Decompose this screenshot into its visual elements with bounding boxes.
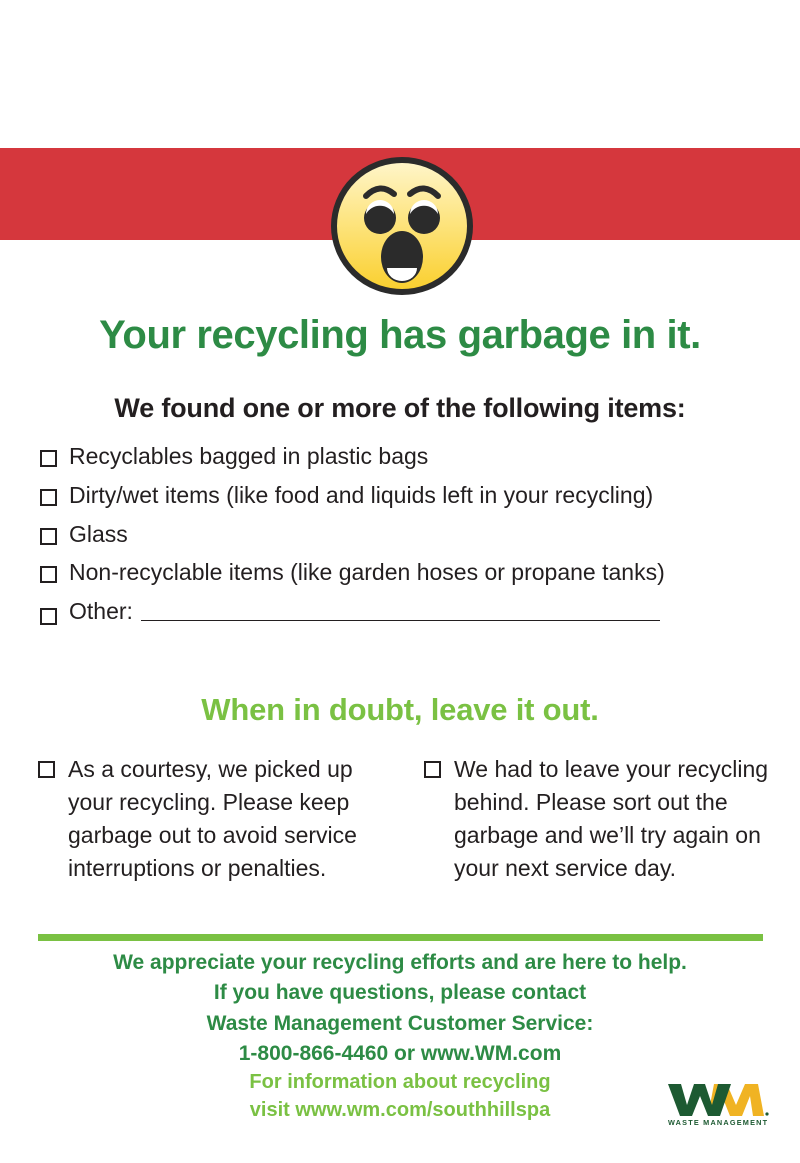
doubt-heading: When in doubt, leave it out.: [0, 692, 800, 728]
outcome-option-left-behind[interactable]: We had to leave your recycling behind. P…: [424, 753, 772, 885]
footer-line-phone-web[interactable]: 1-800-866-4460 or www.WM.com: [0, 1039, 800, 1069]
other-label: Other:: [69, 599, 133, 625]
outcome-option-label: We had to leave your recycling behind. P…: [454, 753, 772, 885]
checklist-item-label: Recyclables bagged in plastic bags: [69, 444, 770, 470]
checklist-item-label: Glass: [69, 522, 770, 548]
logo-tagline: WASTE MANAGEMENT: [668, 1118, 768, 1127]
checklist-item[interactable]: Glass: [40, 522, 770, 548]
checkbox-icon[interactable]: [40, 528, 57, 545]
surprised-face-icon: [326, 156, 478, 296]
checkbox-icon[interactable]: [40, 489, 57, 506]
footer-line-questions: If you have questions, please contact: [0, 978, 800, 1008]
outcome-option-label: As a courtesy, we picked up your recycli…: [68, 753, 386, 885]
checklist-item[interactable]: Recyclables bagged in plastic bags: [40, 444, 770, 470]
checkbox-icon[interactable]: [424, 761, 441, 778]
checklist-item[interactable]: Non-recyclable items (like garden hoses …: [40, 560, 770, 586]
checkbox-icon[interactable]: [40, 566, 57, 583]
outcome-option-picked-up[interactable]: As a courtesy, we picked up your recycli…: [38, 753, 386, 885]
footer-contact-block: We appreciate your recycling efforts and…: [0, 948, 800, 1070]
checkbox-icon[interactable]: [38, 761, 55, 778]
checklist-item-other[interactable]: Other:: [40, 599, 770, 625]
footer-line-appreciation: We appreciate your recycling efforts and…: [0, 948, 800, 978]
checklist-item-label: Dirty/wet items (like food and liquids l…: [69, 483, 770, 509]
page-subtitle: We found one or more of the following it…: [0, 393, 800, 424]
other-write-in-field[interactable]: [141, 620, 660, 621]
page-title: Your recycling has garbage in it.: [0, 313, 800, 358]
recycling-notice-card: Your recycling has garbage in it. We fou…: [0, 0, 800, 1163]
waste-management-logo: WASTE MANAGEMENT: [664, 1078, 776, 1128]
checklist-item-label: Non-recyclable items (like garden hoses …: [69, 560, 770, 586]
footer-line-customer-service: Waste Management Customer Service:: [0, 1009, 800, 1039]
violation-checklist: Recyclables bagged in plastic bags Dirty…: [40, 444, 770, 638]
green-divider: [38, 934, 763, 941]
checklist-item[interactable]: Dirty/wet items (like food and liquids l…: [40, 483, 770, 509]
checkbox-icon[interactable]: [40, 608, 57, 625]
checkbox-icon[interactable]: [40, 450, 57, 467]
outcome-options: As a courtesy, we picked up your recycli…: [38, 753, 778, 885]
